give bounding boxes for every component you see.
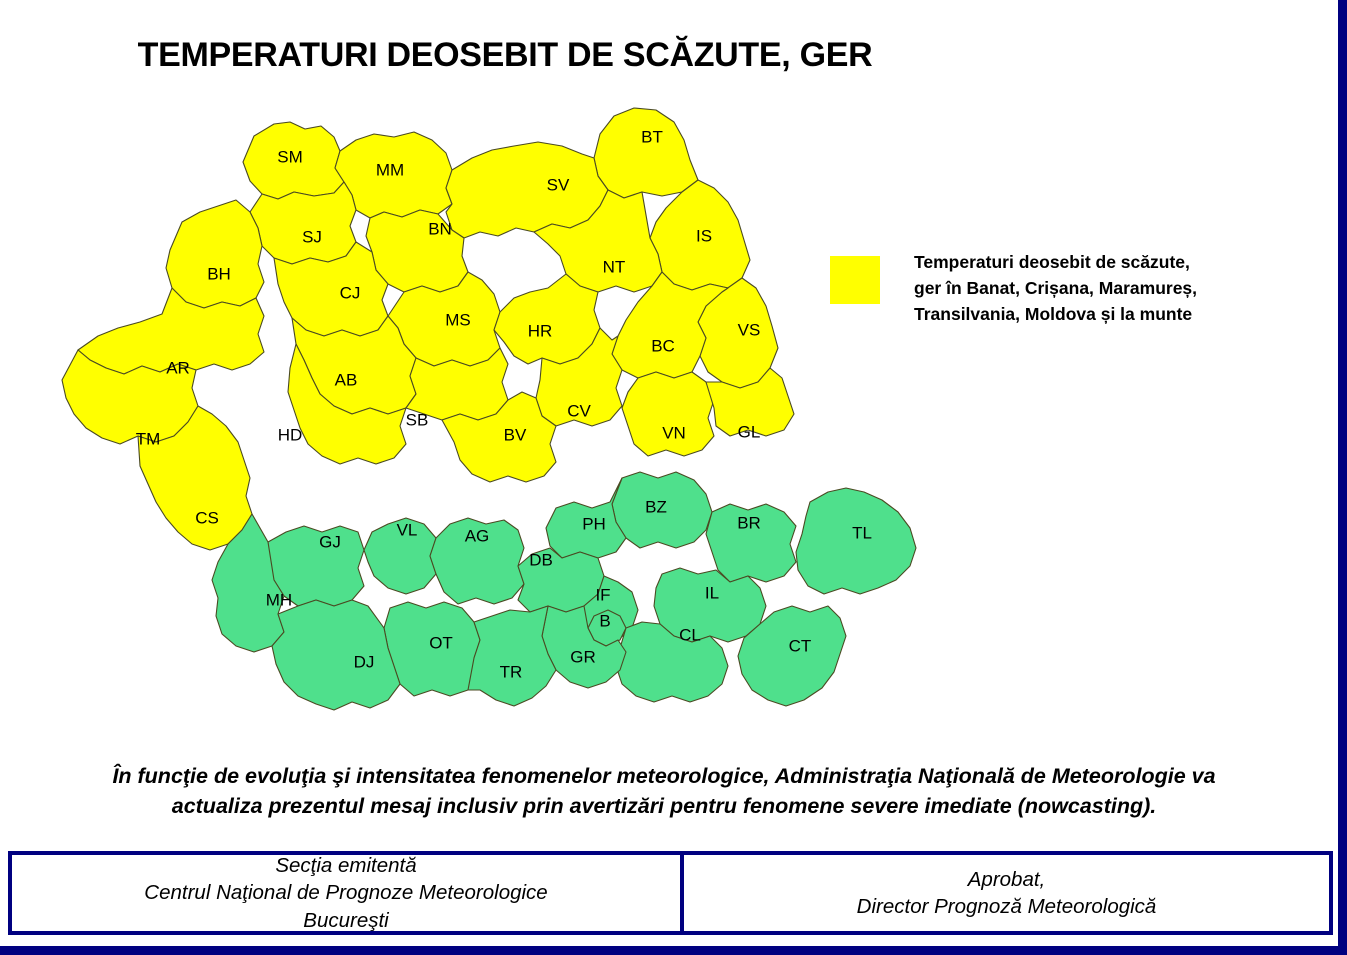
- county-label-bv: BV: [504, 425, 527, 444]
- legend: Temperaturi deosebit de scăzute, ger în …: [830, 250, 1300, 328]
- county-label-sv: SV: [547, 175, 570, 194]
- county-label-bz: BZ: [645, 497, 667, 516]
- county-dj[interactable]: [272, 600, 400, 710]
- disclaimer-note: În funcţie de evoluţia şi intensitatea f…: [14, 762, 1314, 821]
- county-label-tm: TM: [136, 429, 161, 448]
- county-label-gj: GJ: [319, 532, 341, 551]
- county-label-bc: BC: [651, 336, 675, 355]
- county-label-ab: AB: [335, 370, 358, 389]
- county-hr[interactable]: [494, 274, 600, 364]
- county-label-ct: CT: [789, 636, 812, 655]
- county-label-ag: AG: [465, 526, 490, 545]
- county-label-is: IS: [696, 226, 712, 245]
- county-label-cl: CL: [679, 625, 701, 644]
- county-label-gr: GR: [570, 647, 596, 666]
- county-label-cj: CJ: [340, 283, 361, 302]
- county-label-bt: BT: [641, 127, 663, 146]
- county-label-hd: HD: [278, 425, 303, 444]
- county-tr[interactable]: [468, 606, 556, 706]
- county-label-cv: CV: [567, 401, 591, 420]
- issuer-line-3: Bucureşti: [303, 907, 388, 934]
- issuer-line-1: Secţia emitentă: [275, 852, 416, 879]
- county-label-nt: NT: [603, 257, 626, 276]
- footer-cell-issuer: Secţia emitentă Centrul Naţional de Prog…: [12, 855, 684, 931]
- county-label-vl: VL: [397, 520, 418, 539]
- county-label-sj: SJ: [302, 227, 322, 246]
- county-label-bh: BH: [207, 264, 231, 283]
- county-label-dj: DJ: [354, 652, 375, 671]
- county-label-b: B: [599, 611, 610, 630]
- county-label-hr: HR: [528, 321, 553, 340]
- county-label-ot: OT: [429, 633, 453, 652]
- approver-line-2: Director Prognoză Meteorologică: [857, 893, 1157, 920]
- county-label-if: IF: [595, 585, 610, 604]
- legend-line-1: Temperaturi deosebit de scăzute,: [914, 250, 1197, 276]
- romania-weather-map[interactable]: SMMMBTSVSJBNISBHCJNTMSHRVSARABBCSBCVTMHD…: [22, 96, 952, 736]
- footer-table: Secţia emitentă Centrul Naţional de Prog…: [8, 851, 1333, 935]
- county-label-il: IL: [705, 583, 719, 602]
- county-label-ms: MS: [445, 310, 471, 329]
- page-title: TEMPERATURI DEOSEBIT DE SCĂZUTE, GER: [0, 36, 1010, 75]
- approver-line-1: Aprobat,: [968, 866, 1046, 893]
- legend-line-3: Transilvania, Moldova și la munte: [914, 302, 1197, 328]
- legend-swatch-yellow: [830, 256, 880, 304]
- county-label-ph: PH: [582, 514, 606, 533]
- issuer-line-2: Centrul Naţional de Prognoze Meteorologi…: [144, 879, 547, 906]
- legend-text: Temperaturi deosebit de scăzute, ger în …: [914, 250, 1197, 328]
- county-label-bn: BN: [428, 219, 452, 238]
- county-label-tr: TR: [500, 662, 523, 681]
- county-label-vn: VN: [662, 423, 686, 442]
- note-line-1: În funcţie de evoluţia şi intensitatea f…: [14, 762, 1314, 792]
- county-label-db: DB: [529, 550, 553, 569]
- county-bt[interactable]: [594, 108, 698, 198]
- county-label-vs: VS: [738, 320, 761, 339]
- county-label-br: BR: [737, 513, 761, 532]
- county-label-mm: MM: [376, 160, 404, 179]
- county-label-gl: GL: [738, 422, 761, 441]
- county-label-tl: TL: [852, 523, 872, 542]
- footer-cell-approver: Aprobat, Director Prognoză Meteorologică: [684, 855, 1329, 931]
- county-label-sb: SB: [406, 410, 429, 429]
- county-label-mh: MH: [266, 590, 292, 609]
- note-line-2: actualiza prezentul mesaj inclusiv prin …: [14, 792, 1314, 822]
- legend-line-2: ger în Banat, Crișana, Maramureș,: [914, 276, 1197, 302]
- county-label-sm: SM: [277, 147, 303, 166]
- county-label-ar: AR: [166, 358, 190, 377]
- county-vn[interactable]: [622, 372, 714, 456]
- county-il[interactable]: [654, 568, 766, 642]
- county-label-cs: CS: [195, 508, 219, 527]
- county-bh[interactable]: [166, 200, 264, 308]
- map-svg[interactable]: SMMMBTSVSJBNISBHCJNTMSHRVSARABBCSBCVTMHD…: [22, 96, 952, 736]
